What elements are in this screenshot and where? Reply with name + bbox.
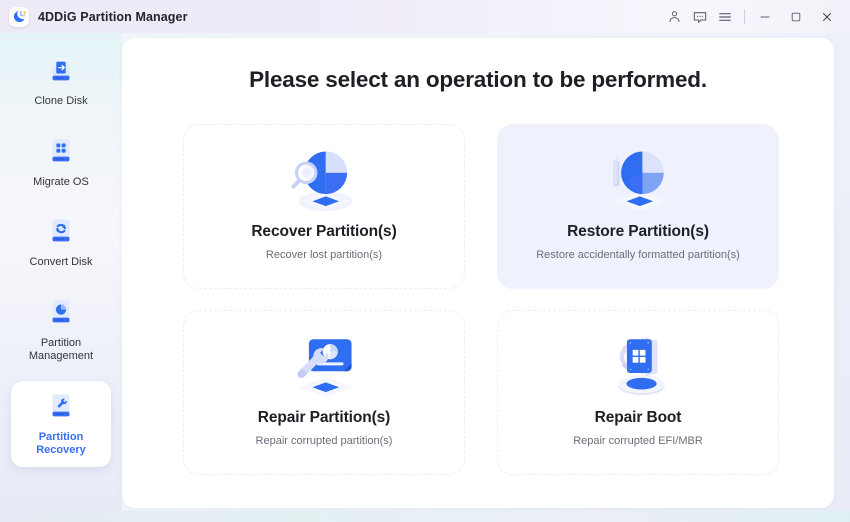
card-title: Restore Partition(s): [567, 223, 709, 241]
clone-disk-icon: [44, 54, 78, 88]
sidebar-item-label: Convert Disk: [30, 256, 93, 270]
restore-partition-icon: [593, 139, 683, 219]
migrate-os-icon: [44, 135, 78, 169]
sidebar-item-label: Clone Disk: [34, 95, 87, 109]
feedback-icon[interactable]: [687, 4, 712, 29]
app-window: 4DDiG Partition Manager: [0, 0, 850, 522]
window-footer-strip: [0, 511, 850, 522]
sidebar-item-label: Partition Recovery: [15, 431, 107, 458]
menu-icon[interactable]: [712, 4, 737, 29]
sidebar-item-partition-recovery[interactable]: Partition Recovery: [11, 381, 111, 467]
sidebar-item-label: Migrate OS: [33, 176, 89, 190]
card-title: Repair Boot: [595, 409, 682, 427]
card-title: Repair Partition(s): [258, 409, 390, 427]
titlebar-divider: [744, 9, 745, 24]
sidebar-item-clone-disk[interactable]: Clone Disk: [11, 45, 111, 118]
repair-boot-icon: [593, 325, 683, 405]
account-icon[interactable]: [662, 4, 687, 29]
card-subtitle: Recover lost partition(s): [266, 249, 382, 261]
card-subtitle: Restore accidentally formatted partition…: [536, 249, 740, 261]
window-controls: [662, 0, 850, 33]
recover-partition-icon: [279, 139, 369, 219]
repair-partition-icon: [279, 325, 369, 405]
operation-card-grid: Recover Partition(s) Recover lost partit…: [183, 124, 779, 475]
card-repair-boot[interactable]: Repair Boot Repair corrupted EFI/MBR: [497, 310, 779, 475]
maximize-icon[interactable]: [783, 4, 808, 29]
content-panel: Please select an operation to be perform…: [122, 38, 834, 508]
partition-management-icon: [44, 296, 78, 330]
card-title: Recover Partition(s): [251, 223, 396, 241]
card-recover-partitions[interactable]: Recover Partition(s) Recover lost partit…: [183, 124, 465, 289]
sidebar-item-partition-management[interactable]: Partition Management: [11, 287, 111, 373]
sidebar: Clone Disk Migrate OS: [0, 33, 122, 511]
card-repair-partitions[interactable]: Repair Partition(s) Repair corrupted par…: [183, 310, 465, 475]
sidebar-item-convert-disk[interactable]: Convert Disk: [11, 206, 111, 279]
card-restore-partitions[interactable]: Restore Partition(s) Restore accidentall…: [497, 124, 779, 289]
minimize-icon[interactable]: [752, 4, 777, 29]
sidebar-item-label: Partition Management: [15, 337, 107, 364]
4ddig-logo-icon: [9, 7, 29, 27]
title-bar: 4DDiG Partition Manager: [0, 0, 850, 33]
close-icon[interactable]: [814, 4, 839, 29]
page-title: Please select an operation to be perform…: [122, 38, 834, 93]
card-subtitle: Repair corrupted partition(s): [256, 435, 393, 447]
app-title: 4DDiG Partition Manager: [38, 10, 188, 24]
card-subtitle: Repair corrupted EFI/MBR: [573, 435, 703, 447]
convert-disk-icon: [44, 215, 78, 249]
sidebar-item-migrate-os[interactable]: Migrate OS: [11, 126, 111, 199]
partition-recovery-icon: [44, 390, 78, 424]
